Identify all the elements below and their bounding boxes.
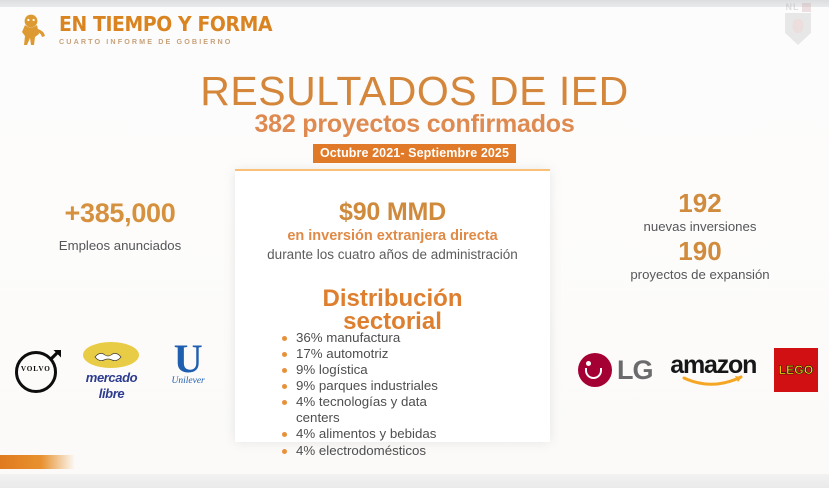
list-item-label: 9% logística xyxy=(296,362,368,378)
logo-row-left: VOLVO mercado libre U Unilever xyxy=(8,336,223,406)
lego-logo: LEGO xyxy=(774,348,818,392)
stat-expansion-value: 190 xyxy=(600,236,800,267)
logo-row-right: LG amazon LEGO xyxy=(572,340,824,400)
list-item: 9% logística xyxy=(282,362,532,378)
bullet-icon xyxy=(282,336,287,341)
unilever-u-icon: U xyxy=(174,340,203,378)
list-item-label: 4% electrodomésticos xyxy=(296,443,426,459)
lg-face-icon xyxy=(578,353,612,387)
list-item: 36% manufactura xyxy=(282,330,532,346)
amazon-smile-icon xyxy=(682,375,744,387)
bullet-icon xyxy=(282,432,287,437)
volvo-logo: VOLVO xyxy=(13,345,65,397)
brand-text-block: EN TIEMPO Y FORMA CUARTO INFORME DE GOBI… xyxy=(59,14,286,46)
bullet-icon xyxy=(282,449,287,454)
brand-subtitle: CUARTO INFORME DE GOBIERNO xyxy=(59,37,286,46)
stat-new-investments-label: nuevas inversiones xyxy=(600,219,800,234)
brand-title: EN TIEMPO Y FORMA xyxy=(59,14,272,35)
card-top-rule xyxy=(235,169,550,171)
bottom-accent-bar xyxy=(0,455,75,469)
list-item-label: 4% tecnologías y data centers xyxy=(296,394,427,426)
unilever-wordmark: Unilever xyxy=(172,376,205,386)
list-item: 4% tecnologías y data centers xyxy=(282,394,532,426)
list-item-label: 17% automotriz xyxy=(296,346,388,362)
ml-wordmark-line2: libre xyxy=(99,387,124,400)
lg-wordmark: LG xyxy=(617,355,653,386)
investment-amount: $90 MMD xyxy=(235,198,550,227)
top-strip xyxy=(0,0,829,7)
watermark-label-row: NL xyxy=(786,2,811,12)
list-item-label: 36% manufactura xyxy=(296,330,400,346)
stat-expansion-label: proyectos de expansión xyxy=(600,267,800,282)
distribution-title: Distribución sectorial xyxy=(235,288,550,334)
list-item-label: 9% parques industriales xyxy=(296,378,438,394)
stat-jobs-label: Empleos anunciados xyxy=(20,238,220,253)
bullet-icon xyxy=(282,384,287,389)
slide-root: EN TIEMPO Y FORMA CUARTO INFORME DE GOBI… xyxy=(0,0,829,488)
list-item: 4% electrodomésticos xyxy=(282,443,532,459)
lion-emblem-icon xyxy=(16,12,50,48)
ml-wordmark-line1: mercado xyxy=(86,371,137,384)
lego-wordmark: LEGO xyxy=(779,363,814,377)
list-item: 17% automotriz xyxy=(282,346,532,362)
nl-watermark: NL xyxy=(775,2,821,54)
bottom-edge-strip xyxy=(0,474,829,488)
list-item: 4% alimentos y bebidas xyxy=(282,426,532,442)
ml-oval-icon xyxy=(83,342,139,368)
stat-new-investments-value: 192 xyxy=(600,188,800,219)
list-item-label: 4% alimentos y bebidas xyxy=(296,426,436,442)
investment-period: durante los cuatro años de administració… xyxy=(235,247,550,262)
date-range-badge: Octubre 2021- Septiembre 2025 xyxy=(313,144,516,163)
page-title: RESULTADOS DE IED xyxy=(0,68,829,115)
amazon-logo: amazon xyxy=(670,353,756,387)
lg-smile-icon xyxy=(585,368,602,379)
bullet-icon xyxy=(282,368,287,373)
list-item: 9% parques industriales xyxy=(282,378,532,394)
volvo-arrow-icon xyxy=(48,347,63,362)
brand-header: EN TIEMPO Y FORMA CUARTO INFORME DE GOBI… xyxy=(16,12,286,48)
investment-subtitle: en inversión extranjera directa xyxy=(235,228,550,244)
watermark-square-icon xyxy=(802,3,811,12)
date-banner-wrap: Octubre 2021- Septiembre 2025 xyxy=(0,144,829,163)
lg-eye-icon xyxy=(586,361,591,366)
bullet-icon xyxy=(282,400,287,405)
page-subtitle: 382 proyectos confirmados xyxy=(0,110,829,139)
volvo-wordmark: VOLVO xyxy=(15,365,57,373)
mercado-libre-logo: mercado libre xyxy=(74,342,148,400)
distribution-list: 36% manufactura 17% automotriz 9% logíst… xyxy=(282,330,532,459)
stat-jobs-value: +385,000 xyxy=(20,198,220,229)
bullet-icon xyxy=(282,352,287,357)
lg-logo: LG xyxy=(578,353,653,387)
nl-shield-icon xyxy=(785,13,811,45)
unilever-logo: U Unilever xyxy=(158,340,218,402)
watermark-label: NL xyxy=(786,2,800,12)
